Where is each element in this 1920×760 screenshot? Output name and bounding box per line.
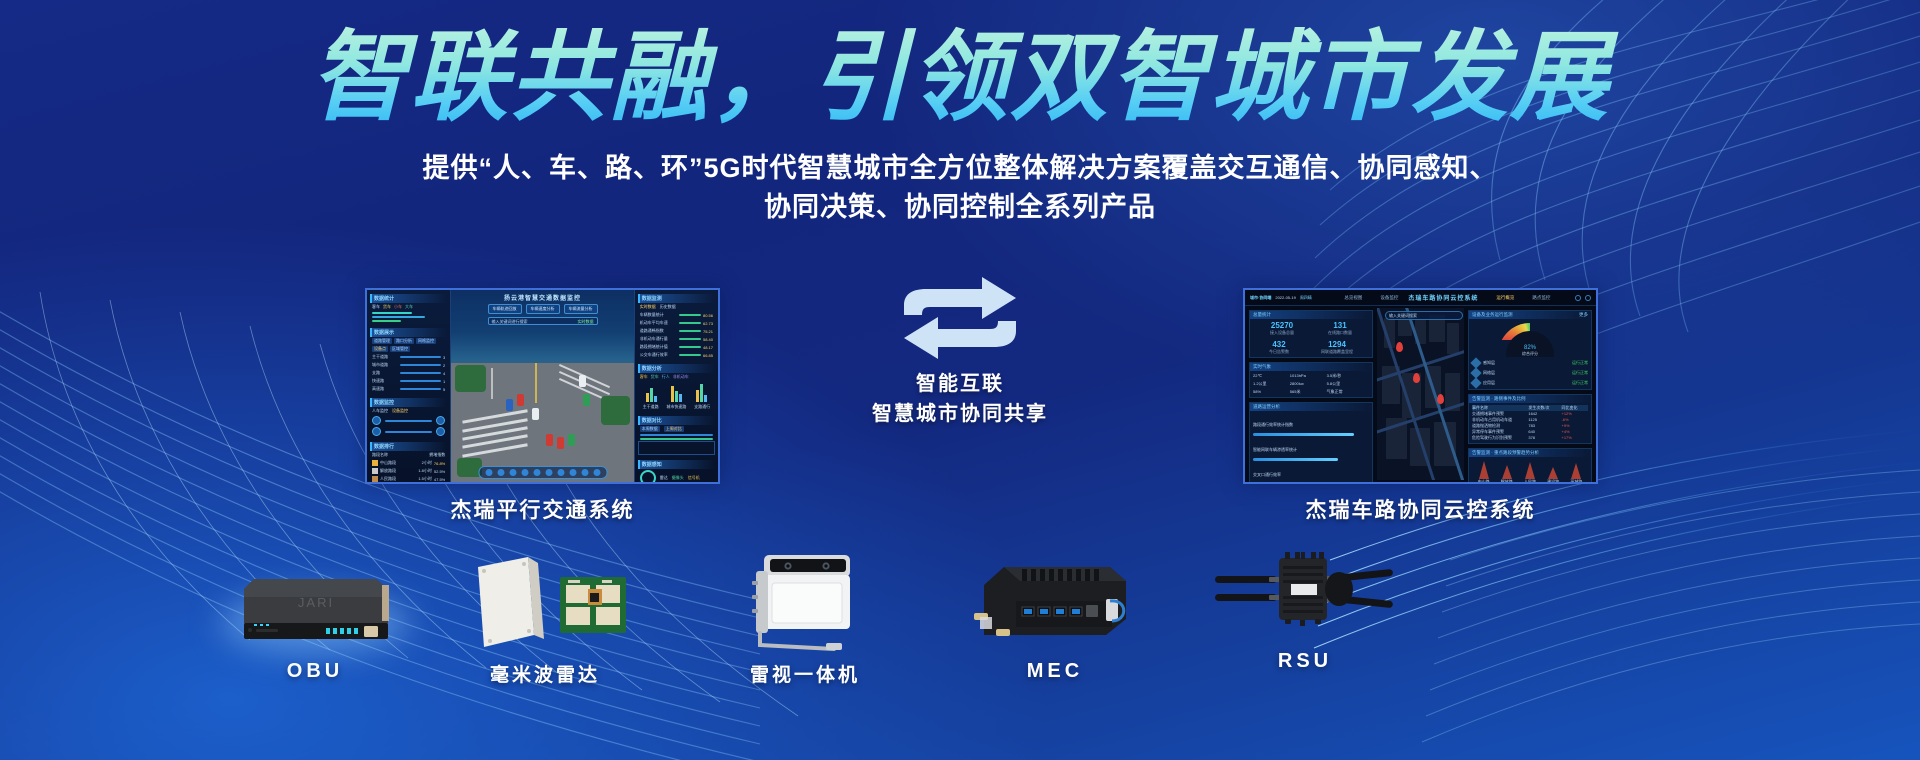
kpi-3-value: 1294 <box>1321 340 1353 349</box>
product-label-mec: MEC <box>940 660 1170 683</box>
dock-icon-5[interactable] <box>533 469 540 476</box>
panel-parallel-traffic-system[interactable]: 数据统计 客车 货车 小车 大车 数据展示 <box>365 288 720 524</box>
row-value: 62.73 <box>703 321 713 326</box>
left-dashboard-screenshot[interactable]: 数据统计 客车 货车 小车 大车 数据展示 <box>365 288 720 484</box>
bar-label: 路段通行效率统计指数 <box>1253 422 1293 427</box>
rank-badge-icon <box>372 468 378 474</box>
kpi-0-label: 接入设备总量 <box>1270 330 1294 335</box>
kpi-1: 131在线路口数量 <box>1328 321 1352 336</box>
row-v1: 378 <box>1528 435 1561 441</box>
scene-car <box>557 437 564 449</box>
map-search-placeholder: 输入关键词搜索 <box>1389 313 1417 319</box>
weather-item-2: 3.5米/秒 <box>1327 373 1362 379</box>
subtitle-line-2: 协同决策、协同控制全系列产品 <box>0 188 1920 227</box>
trend-label-1: 解放路 <box>1501 479 1513 484</box>
top-left-time: 周四晴 <box>1300 295 1312 301</box>
kpi-2-label: 今日告警数 <box>1269 349 1289 354</box>
item-status: 运行正常 <box>1572 370 1588 376</box>
table-row: 路段拥堵统计值48.17 <box>638 343 715 351</box>
row-value: 1 <box>443 379 445 384</box>
tab-left-1-3[interactable]: 设备点 <box>372 346 388 352</box>
card-left-3: 数据排行 路段名称拥堵指数 中山路段2小时76.8% 解放路段1.8小时52.5… <box>370 442 447 484</box>
list-item: 应用层运行正常 <box>1472 379 1588 387</box>
weather-item-7: 565米 <box>1290 389 1325 395</box>
rsu-device-icon <box>1195 540 1415 640</box>
center-exchange-block: 智能互联 智慧城市协同共享 <box>740 275 1180 429</box>
card-right-0-title: 数据监测 <box>638 294 715 303</box>
weather-item-0: 22℃ <box>1253 373 1288 379</box>
toolbar-btn-2[interactable]: 车辆流量分析 <box>564 304 598 314</box>
card-left-1: 数据展示 道路管理 路口分析 网格监控 设备点 区域管控 主干道路3 城市道路2… <box>370 328 447 393</box>
row-v2: 47.5% <box>434 477 445 482</box>
weather-item-3: 1.2公里 <box>1253 381 1288 387</box>
product-mec[interactable]: MEC <box>940 555 1170 683</box>
legend-r1-0: 客车 <box>640 374 648 380</box>
monitor-dot-icon <box>436 416 445 425</box>
product-label-obu: OBU <box>200 660 430 683</box>
trend-label-2: 人民路 <box>1524 479 1536 484</box>
kpi-0-value: 25270 <box>1270 321 1294 330</box>
table-row: 车辆数量统计80.56 <box>638 311 715 319</box>
table-row: 道路通畅指数75.21 <box>638 327 715 335</box>
kpi-2-value: 432 <box>1269 340 1289 349</box>
row-name: 快速路 <box>372 378 398 384</box>
scene-car <box>546 434 553 446</box>
map-pin[interactable] <box>1413 373 1420 383</box>
monitor-dot-icon <box>436 427 445 436</box>
list-item: 高速路5 <box>370 385 447 393</box>
row-name: 主干道路 <box>372 354 398 360</box>
right-panel-caption: 杰瑞车路协同云控系统 <box>1243 494 1598 524</box>
dock-icon-1[interactable] <box>485 469 492 476</box>
settings-icon[interactable] <box>1575 295 1581 301</box>
trend-label-3: 建设路 <box>1547 479 1559 484</box>
scene-car <box>532 408 539 420</box>
bar-row: 交叉口通行效率 <box>1253 463 1369 484</box>
rcard-right-1-title: 告警监测 · 路侧事件及比例 <box>1469 395 1591 403</box>
weather-item-4: 2800lux <box>1290 381 1325 387</box>
table-row: 中山路段2小时76.8% <box>370 459 447 467</box>
banner-stage: 智联共融，引领双智城市发展 提供“人、车、路、环”5G时代智慧城市全方位整体解决… <box>0 0 1920 760</box>
row-value: 3 <box>443 355 445 360</box>
row-name: 解放路段 <box>380 468 416 474</box>
scene-car <box>579 375 586 387</box>
rcard-right-1: 告警监测 · 路侧事件及比例 事件名称发生次数/次同比变化 交通拥堵事件预警16… <box>1468 394 1592 444</box>
table-row: 机动车平均车速62.73 <box>638 319 715 327</box>
monitor-dot-icon <box>372 416 381 425</box>
list-item: 主干道路3 <box>370 353 447 361</box>
panel-v2x-cloud-control-system[interactable]: 城市·协同端 2022-05-19 周四晴 总览视图 设备监控 杰瑞车路协同云控… <box>1243 288 1598 524</box>
legend-0-3: 大车 <box>405 304 413 310</box>
product-millimeter-wave-radar[interactable]: 毫米波雷达 <box>430 555 660 687</box>
group-r1-2: 支路通行 <box>694 404 710 410</box>
trend-spike <box>1502 465 1512 479</box>
left-screen-toolbar[interactable]: 车辆轨迹回放 车辆速度分析 车辆流量分析 <box>488 304 598 314</box>
tab-right-2-1[interactable]: 上周对比 <box>664 426 684 432</box>
map-pin[interactable] <box>1396 342 1403 352</box>
row-name: 城市道路 <box>372 362 398 368</box>
list-item: 快速路1 <box>370 377 447 385</box>
subtab-left-2-0[interactable]: 人车监控 <box>372 408 388 414</box>
card-left-1-title: 数据展示 <box>370 328 447 337</box>
row-name: 危险驾驶行为识别预警 <box>1472 435 1528 441</box>
monitor-dot-icon <box>372 427 381 436</box>
card-right-2: 数据对比 本周数据 上周对比 <box>638 416 715 455</box>
left-screen-icon-dock[interactable] <box>478 466 607 479</box>
legend-r1-3: 非机动车 <box>673 374 689 380</box>
row-value: 66.85 <box>703 353 713 358</box>
legend-0-1: 货车 <box>383 304 391 310</box>
right-screen-title: 杰瑞车路协同云控系统 <box>1408 293 1478 302</box>
card-left-0: 数据统计 客车 货车 小车 大车 <box>370 294 447 323</box>
left-screen-title: 扬云港智慧交通数据监控 <box>504 293 581 302</box>
trend-spike <box>1571 463 1581 479</box>
svg-text:JARI: JARI <box>298 595 334 610</box>
list-item: 网络层运行正常 <box>1472 369 1588 377</box>
product-label-radar: 毫米波雷达 <box>430 660 660 687</box>
weather-item-8: 气象正常 <box>1327 389 1362 395</box>
right-screen-topbar[interactable]: 城市·协同端 2022-05-19 周四晴 总览视图 设备监控 杰瑞车路协同云控… <box>1245 290 1596 306</box>
map-pin[interactable] <box>1437 394 1444 404</box>
tab-left-1-2[interactable]: 网格监控 <box>416 338 436 344</box>
row-value: 5 <box>443 387 445 392</box>
obu-device-icon: JARI <box>230 575 400 655</box>
tab-left-1-0[interactable]: 道路管理 <box>372 338 392 344</box>
row-value: 58.40 <box>703 337 713 342</box>
legend-r1-1: 货车 <box>651 374 659 380</box>
bar-row: 路段通行效率统计指数 <box>1253 413 1369 436</box>
item-name: 应用层 <box>1483 380 1569 386</box>
mec-device-icon <box>960 555 1150 650</box>
legend-0-2: 小车 <box>394 304 402 310</box>
rank-badge-icon <box>372 476 378 482</box>
table-row: 人民路段1.5小时47.5% <box>370 475 447 483</box>
dock-icon-10[interactable] <box>593 469 600 476</box>
search-placeholder: 输入关键词进行搜索 <box>492 319 528 325</box>
weather-item-1: 1013hPa <box>1290 373 1325 379</box>
subtitle-line-1: 提供“人、车、路、环”5G时代智慧城市全方位整体解决方案覆盖交互通信、协同感知、 <box>0 149 1920 188</box>
group-r1-1: 城市快速路 <box>666 404 686 410</box>
list-item: 感知层运行正常 <box>1472 359 1588 367</box>
table-row: 建设路1.2小时38.5% <box>370 483 447 484</box>
row-name: 中山路段 <box>380 460 420 466</box>
table-row: 解放路段1.8小时52.5% <box>370 467 447 475</box>
top-left-date: 2022-05-19 <box>1275 295 1295 300</box>
product-label-radar-vision: 雷视一体机 <box>690 660 920 687</box>
row-v2: 76.8% <box>434 461 445 466</box>
row-v1: 1.5小时 <box>418 476 432 482</box>
tab-left-1-1[interactable]: 路口分析 <box>394 338 414 344</box>
rcard-right-0: 设备及业务运行监测 更多 82% 综合评分 感知层运行正常 网络层运行正常 应用… <box>1468 310 1592 390</box>
card-right-3-title: 数据感知 <box>638 460 715 469</box>
item-name: 感知层 <box>1483 360 1569 366</box>
kpi-1-label: 在线路口数量 <box>1328 330 1352 335</box>
road-surface <box>451 363 634 482</box>
legend-r3-1: 摄像头 <box>672 475 684 481</box>
card-left-2-title: 数据监控 <box>370 398 447 407</box>
row-v1: 2小时 <box>422 460 432 466</box>
row-name: 道路通畅指数 <box>640 328 677 334</box>
legend-0-0: 客车 <box>372 304 380 310</box>
dock-icon-2[interactable] <box>497 469 504 476</box>
toggle-label[interactable]: 实时数据 <box>578 319 594 325</box>
dock-icon-3[interactable] <box>509 469 516 476</box>
card-right-0: 数据监测 实时数据 历史数据 车辆数量统计80.56 机动车平均车速62.73 … <box>638 294 715 359</box>
kpi-0: 25270接入设备总量 <box>1270 321 1294 336</box>
toolbar-btn-1[interactable]: 车辆速度分析 <box>526 304 560 314</box>
rcard-left-2-title: 道路运营分析 <box>1250 403 1372 411</box>
rcard-right-0-title: 设备及业务运行监测 <box>1472 312 1513 318</box>
product-radar-vision-unit[interactable]: 雷视一体机 <box>690 545 920 687</box>
list-item: 支路4 <box>370 369 447 377</box>
row-name: 高速路 <box>372 386 398 392</box>
rcard-left-1-title: 实时气象 <box>1250 363 1372 371</box>
right-dashboard-right-column: 设备及业务运行监测 更多 82% 综合评分 感知层运行正常 网络层运行正常 应用… <box>1466 308 1594 484</box>
left-panel-caption: 杰瑞平行交通系统 <box>365 494 720 524</box>
map-search-input[interactable]: 输入关键词搜索 <box>1385 311 1463 320</box>
weather-item-5: 5.8公里 <box>1327 381 1362 387</box>
row-name: 机动车平均车速 <box>640 320 677 326</box>
trend-spike <box>1548 467 1558 479</box>
kpi-3: 1294网联道路覆盖里程 <box>1321 340 1353 355</box>
item-status: 运行正常 <box>1572 380 1588 386</box>
rcard-left-1: 实时气象 22℃ 1013hPa 3.5米/秒 1.2公里 2800lux 5.… <box>1249 362 1373 398</box>
kpi-group-bottom: 432今日告警数 1294网联道路覆盖里程 <box>1250 338 1372 357</box>
bar-row: 智能网联车辆渗透率统计 <box>1253 438 1369 461</box>
scene-car <box>506 399 513 411</box>
item-status: 运行正常 <box>1572 360 1588 366</box>
row-value: 4 <box>443 371 445 376</box>
scene-car <box>568 434 575 446</box>
tab-right-0-1[interactable]: 历史数据 <box>660 304 676 310</box>
col-head: 路段名称 <box>372 452 388 458</box>
row-name: 公交车通行效率 <box>640 352 677 358</box>
trend-label-0: 中山路 <box>1478 479 1490 484</box>
hero-text-block: 智联共融，引领双智城市发展 提供“人、车、路、环”5G时代智慧城市全方位整体解决… <box>0 22 1920 227</box>
top-tab-right-1[interactable]: 路点监控 <box>1532 295 1550 301</box>
row-name: 人民路段 <box>380 476 416 482</box>
rcard-right-0-badge[interactable]: 更多 <box>1579 312 1588 318</box>
kpi-1-value: 131 <box>1328 321 1352 330</box>
left-dashboard-right-column: 数据监测 实时数据 历史数据 车辆数量统计80.56 机动车平均车速62.73 … <box>634 290 718 482</box>
card-right-3: 数据感知 雷达 摄像头 信号机 <box>638 460 715 484</box>
center-text-line-1: 智能互联 <box>740 369 1180 399</box>
product-label-rsu: RSU <box>1190 650 1420 673</box>
rcard-left-2: 道路运营分析 路段通行效率统计指数 智能网联车辆渗透率统计 交叉口通行效率 路侧… <box>1249 402 1373 484</box>
col-head: 拥堵指数 <box>429 452 445 458</box>
card-right-1: 数据分析 客车 货车 行人 非机动车 主 <box>638 364 715 411</box>
right-dashboard-screenshot[interactable]: 城市·协同端 2022-05-19 周四晴 总览视图 设备监控 杰瑞车路协同云控… <box>1243 288 1598 484</box>
card-right-2-title: 数据对比 <box>638 416 715 425</box>
row-name: 路段拥堵统计值 <box>640 344 677 350</box>
row-name: 支路 <box>372 370 398 376</box>
rcard-right-2-title: 告警监测 · 重点路段预警趋势分析 <box>1469 449 1591 457</box>
rcard-left-0: 总量统计 25270接入设备总量 131在线路口数量 432今日告警数 1294… <box>1249 310 1373 358</box>
tab-right-2-0[interactable]: 本周数据 <box>640 426 660 432</box>
rank-badge-icon <box>372 460 378 466</box>
kpi-3-label: 网联道路覆盖里程 <box>1321 349 1353 354</box>
table-row: 非机动车通行量58.40 <box>638 335 715 343</box>
card-left-2: 数据监控 人车监控 设备监控 <box>370 398 447 437</box>
dock-icon-8[interactable] <box>569 469 576 476</box>
dock-icon-6[interactable] <box>545 469 552 476</box>
rcard-right-2: 告警监测 · 重点路段预警趋势分析 中山路 解放路 <box>1468 448 1592 484</box>
exchange-arrows-icon <box>900 275 1020 361</box>
trend-spike <box>1525 462 1535 479</box>
dock-icon-4[interactable] <box>521 469 528 476</box>
row-value: 2 <box>443 363 445 368</box>
legend-r1-2: 行人 <box>662 374 670 380</box>
item-name: 网络层 <box>1483 370 1569 376</box>
scene-car <box>517 394 524 406</box>
table-row: 危险驾驶行为识别预警378+17% <box>1472 435 1588 441</box>
legend-r3-0: 雷达 <box>660 475 668 481</box>
row-value: 75.21 <box>703 329 713 334</box>
radar-camera-device-icon <box>730 545 880 655</box>
page-title: 智联共融，引领双智城市发展 <box>0 22 1920 135</box>
weather-item-6: 58% <box>1253 389 1288 395</box>
row-value: 80.56 <box>703 313 713 318</box>
kpi-group-top: 25270接入设备总量 131在线路口数量 <box>1250 319 1372 338</box>
left-screen-search-input[interactable]: 输入关键词进行搜索 实时数据 <box>488 317 598 325</box>
top-tab-left-1[interactable]: 设备监控 <box>1380 295 1398 301</box>
center-text-line-2: 智慧城市协同共享 <box>740 399 1180 429</box>
right-dashboard-left-column: 总量统计 25270接入设备总量 131在线路口数量 432今日告警数 1294… <box>1247 308 1375 484</box>
top-left-label: 城市·协同端 <box>1250 295 1271 301</box>
kpi-2: 432今日告警数 <box>1269 340 1289 355</box>
dock-icon-9[interactable] <box>581 469 588 476</box>
left-dashboard-left-column: 数据统计 客车 货车 小车 大车 数据展示 <box>367 290 451 482</box>
list-item: 城市道路2 <box>370 361 447 369</box>
cube-icon <box>1470 377 1481 388</box>
row-v2: 52.5% <box>434 469 445 474</box>
right-screen-3d-map[interactable]: 输入关键词搜索 人 车 路 云 <box>1377 308 1464 480</box>
gauge-label: 综合评分 <box>1472 351 1588 357</box>
trend-spike <box>1479 461 1489 479</box>
row-value: 48.17 <box>703 345 713 350</box>
legend-r3-2: 信号机 <box>688 475 700 481</box>
trend-label-4: 环城路 <box>1570 479 1582 484</box>
left-dashboard-3d-scene[interactable]: 扬云港智慧交通数据监控 车辆轨迹回放 车辆速度分析 车辆流量分析 输入关键词进行… <box>451 290 634 482</box>
card-left-3-title: 数据排行 <box>370 442 447 451</box>
tab-left-1-4[interactable]: 区域管控 <box>390 346 410 352</box>
card-left-0-title: 数据统计 <box>370 294 447 303</box>
radar-device-icon <box>450 555 640 655</box>
top-tab-left-0[interactable]: 总览视图 <box>1344 295 1362 301</box>
row-name: 车辆数量统计 <box>640 312 677 318</box>
product-obu[interactable]: JARI OBU <box>200 575 430 683</box>
page-subtitle: 提供“人、车、路、环”5G时代智慧城市全方位整体解决方案覆盖交互通信、协同感知、… <box>0 149 1920 227</box>
row-name: 非机动车通行量 <box>640 336 677 342</box>
scene-car <box>583 394 590 406</box>
rcard-left-0-title: 总量统计 <box>1250 311 1372 319</box>
radar-wave-icon <box>640 470 656 484</box>
power-icon[interactable] <box>1585 295 1591 301</box>
row-v1: 1.8小时 <box>418 468 432 474</box>
product-rsu[interactable]: RSU <box>1190 540 1420 673</box>
bar-label: 智能网联车辆渗透率统计 <box>1253 447 1297 452</box>
tab-right-0-0[interactable]: 实时数据 <box>640 304 656 310</box>
table-row: 公交车通行效率66.85 <box>638 351 715 359</box>
group-r1-0: 主干道路 <box>643 404 659 410</box>
top-tab-right-0[interactable]: 运行概览 <box>1496 295 1514 301</box>
card-right-1-title: 数据分析 <box>638 364 715 373</box>
dock-icon-7[interactable] <box>557 469 564 476</box>
row-v2: +17% <box>1561 435 1588 441</box>
bar-label: 交叉口通行效率 <box>1253 472 1281 477</box>
subtab-left-2-1[interactable]: 设备监控 <box>392 408 408 414</box>
toolbar-btn-0[interactable]: 车辆轨迹回放 <box>488 304 522 314</box>
